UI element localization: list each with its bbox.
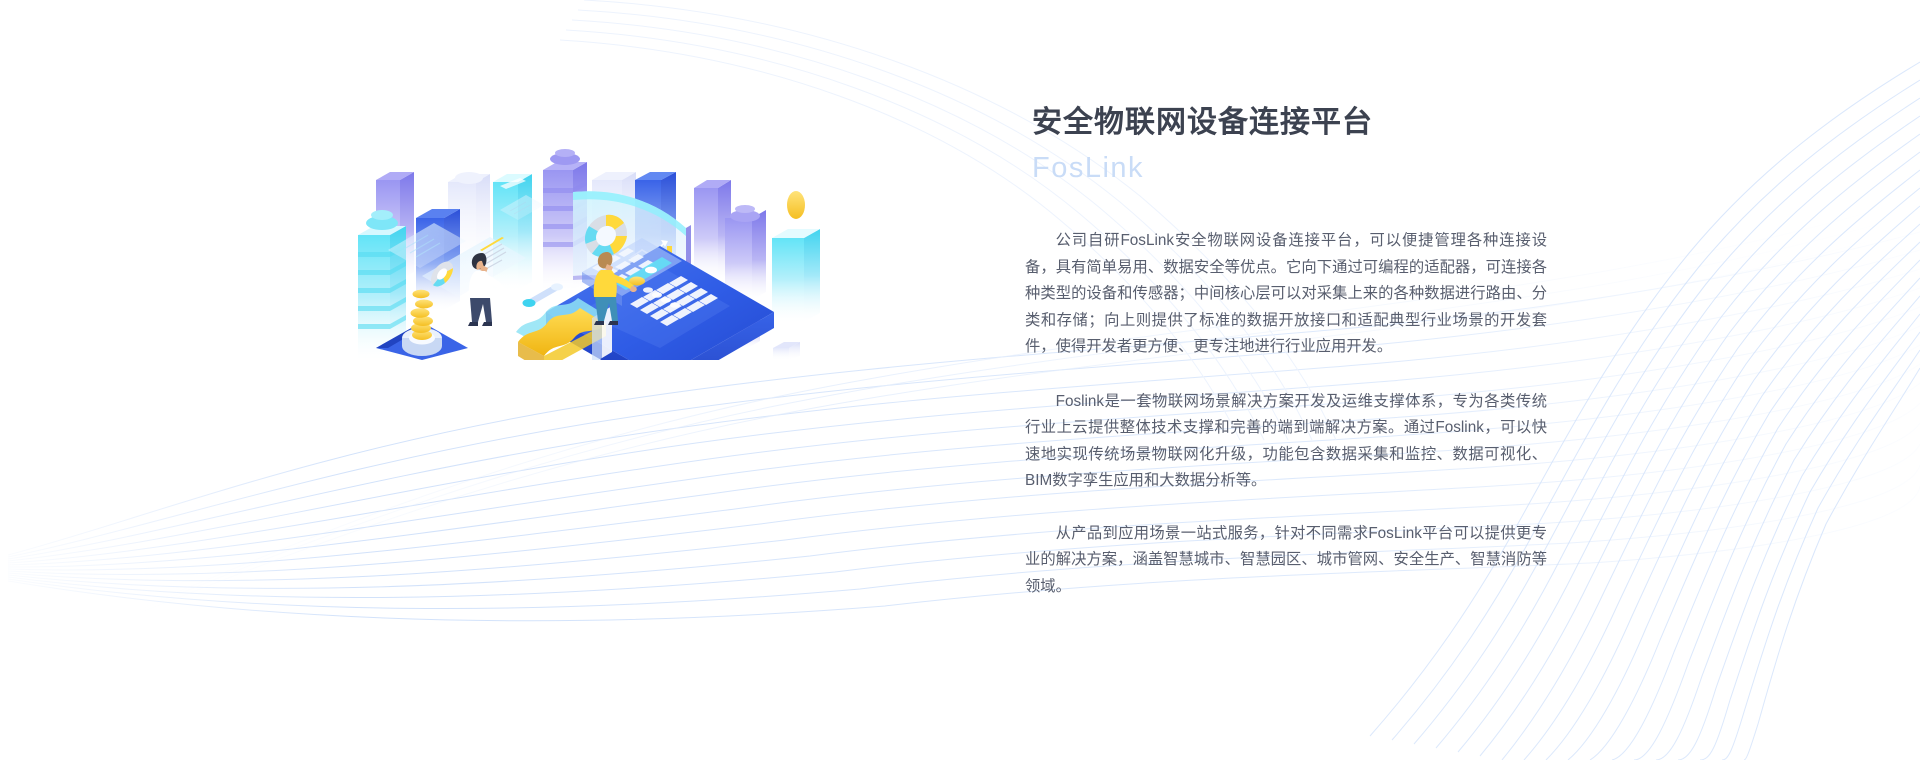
product-name-subtitle: FosLink bbox=[1032, 148, 1555, 188]
building-small-cube-far-right bbox=[773, 342, 800, 360]
building-round-right bbox=[725, 205, 766, 300]
paragraph-2: Foslink是一套物联网场景解决方案开发及运维支撑体系，专为各类传统行业上云提… bbox=[1025, 389, 1547, 495]
connector-antenna bbox=[523, 283, 564, 307]
wave-bundle-left bbox=[8, 232, 1920, 621]
paragraph-1: 公司自研FosLink安全物联网设备连接平台，可以便捷管理各种连接设备，具有简单… bbox=[1025, 228, 1547, 361]
page-title: 安全物联网设备连接平台 bbox=[1032, 104, 1555, 142]
building-pedestal-coin bbox=[772, 191, 820, 322]
paragraph-3: 从产品到应用场景一站式服务，针对不同需求FosLink平台可以提供更专业的解决方… bbox=[1025, 521, 1547, 601]
background-wave-lines bbox=[0, 0, 1920, 760]
coin-floating bbox=[787, 191, 805, 219]
hero-section: 安全物联网设备连接平台 FosLink 公司自研FosLink安全物联网设备连接… bbox=[0, 0, 1920, 760]
isometric-smart-city-illustration bbox=[330, 60, 830, 360]
hero-text-column: 安全物联网设备连接平台 FosLink 公司自研FosLink安全物联网设备连接… bbox=[1025, 104, 1555, 600]
